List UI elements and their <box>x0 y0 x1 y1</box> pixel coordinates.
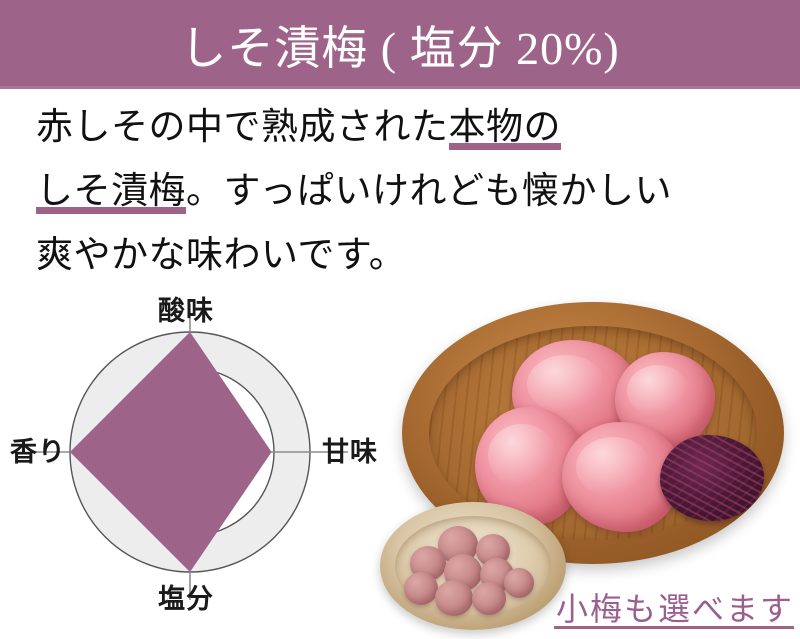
radar-label-sweetness: 甘味 <box>322 437 378 467</box>
photo-caption-underline <box>554 626 794 629</box>
description-line-2-plain: 。すっぱいけれども懐かしい <box>186 171 672 212</box>
small-plum <box>435 580 473 616</box>
taste-radar-chart: 酸味 甘味 塩分 香り <box>0 292 400 639</box>
radar-label-sourness: 酸味 <box>158 296 214 326</box>
radar-label-aroma: 香り <box>10 437 66 467</box>
page-title: しそ漬梅 ( 塩分 20%) <box>180 12 619 78</box>
product-description: 赤しその中で熟成された本物の しそ漬梅。すっぱいけれども懐かしい 爽やかな味わい… <box>36 96 756 288</box>
small-plum <box>472 582 506 615</box>
radar-label-saltiness: 塩分 <box>158 584 214 614</box>
description-line-1-plain: 赤しその中で熟成された <box>36 107 449 148</box>
product-photo: 小梅も選べます <box>378 296 800 639</box>
description-line-3: 爽やかな味わいです。 <box>36 224 756 288</box>
shiso-garnish <box>660 435 764 521</box>
inset-small-plum-photo <box>380 502 566 630</box>
photo-caption: 小梅も選べます <box>556 584 794 630</box>
product-info-banner: しそ漬梅 ( 塩分 20%) 赤しその中で熟成された本物の しそ漬梅。すっぱいけ… <box>0 0 800 639</box>
small-plum <box>504 568 534 598</box>
description-line-1-highlight: 本物の <box>449 107 562 150</box>
header-band: しそ漬梅 ( 塩分 20%) <box>0 0 800 89</box>
description-line-3-plain: 爽やかな味わいです。 <box>36 235 406 276</box>
description-line-2: しそ漬梅。すっぱいけれども懐かしい <box>36 160 756 224</box>
small-plum <box>404 572 438 605</box>
description-line-2-highlight: しそ漬梅 <box>36 171 186 214</box>
description-line-1: 赤しその中で熟成された本物の <box>36 96 756 160</box>
